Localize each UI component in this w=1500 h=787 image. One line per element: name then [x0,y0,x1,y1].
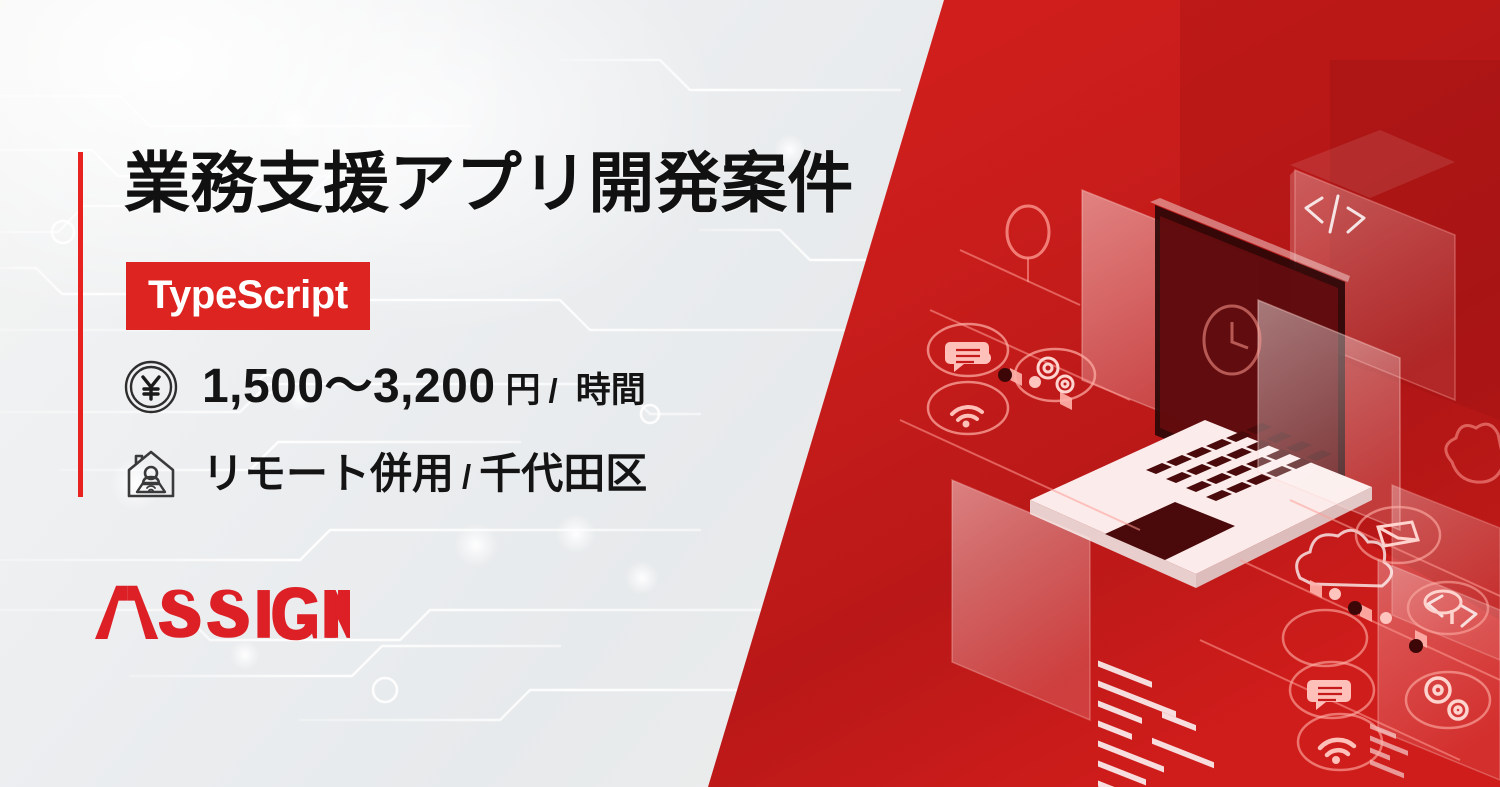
iso-panel-lower-left [952,480,1090,787]
work-style: リモート併用 [202,453,454,495]
icon-bubble-gears [1015,349,1095,401]
rate-text: 1,500〜3,200 円 / 時間 [202,363,646,411]
iso-panel-lower-right [1378,560,1500,787]
assign-logo [88,582,350,644]
rate-row: 1,500〜3,200 円 / 時間 [120,356,646,418]
remote-work-house-icon [120,443,182,505]
iso-panel-chart-front [1258,300,1400,787]
banner-content: 業務支援アプリ開発案件 TypeScript 1,500 [0,0,950,787]
location-separator: / [462,460,471,493]
iso-laptop [1030,198,1372,787]
icon-bubble-chat-2 [1290,662,1374,718]
rate-separator: / [549,374,558,407]
icon-bubble-wifi-2 [1298,714,1382,770]
iso-panel-cloud [1297,485,1500,660]
clock-icon [1204,306,1260,374]
location-row: リモート併用 / 千代田区 [120,443,647,505]
icon-balloon [1007,206,1049,282]
location-area: 千代田区 [479,453,647,495]
icon-bubble-envelope [1356,507,1440,563]
accent-bar [78,152,83,497]
icon-bubble-gears-2 [1406,672,1490,728]
page-title: 業務支援アプリ開発案件 [124,150,854,216]
iso-panel-group-top-right [1290,130,1455,778]
icon-hand [1446,424,1500,482]
rate-amount: 1,500〜3,200 [202,363,496,411]
icon-bubble-search [1408,582,1488,634]
location-text: リモート併用 / 千代田区 [202,453,647,495]
skill-tag-typescript: TypeScript [126,262,370,330]
yen-coin-icon [120,356,182,418]
icon-bubble-grid [1283,610,1367,787]
rate-currency: 円 [506,373,541,408]
job-banner: 業務支援アプリ開発案件 TypeScript 1,500 [0,0,1500,787]
iso-panel-code-left [1082,190,1258,787]
rate-period: 時間 [576,373,646,408]
